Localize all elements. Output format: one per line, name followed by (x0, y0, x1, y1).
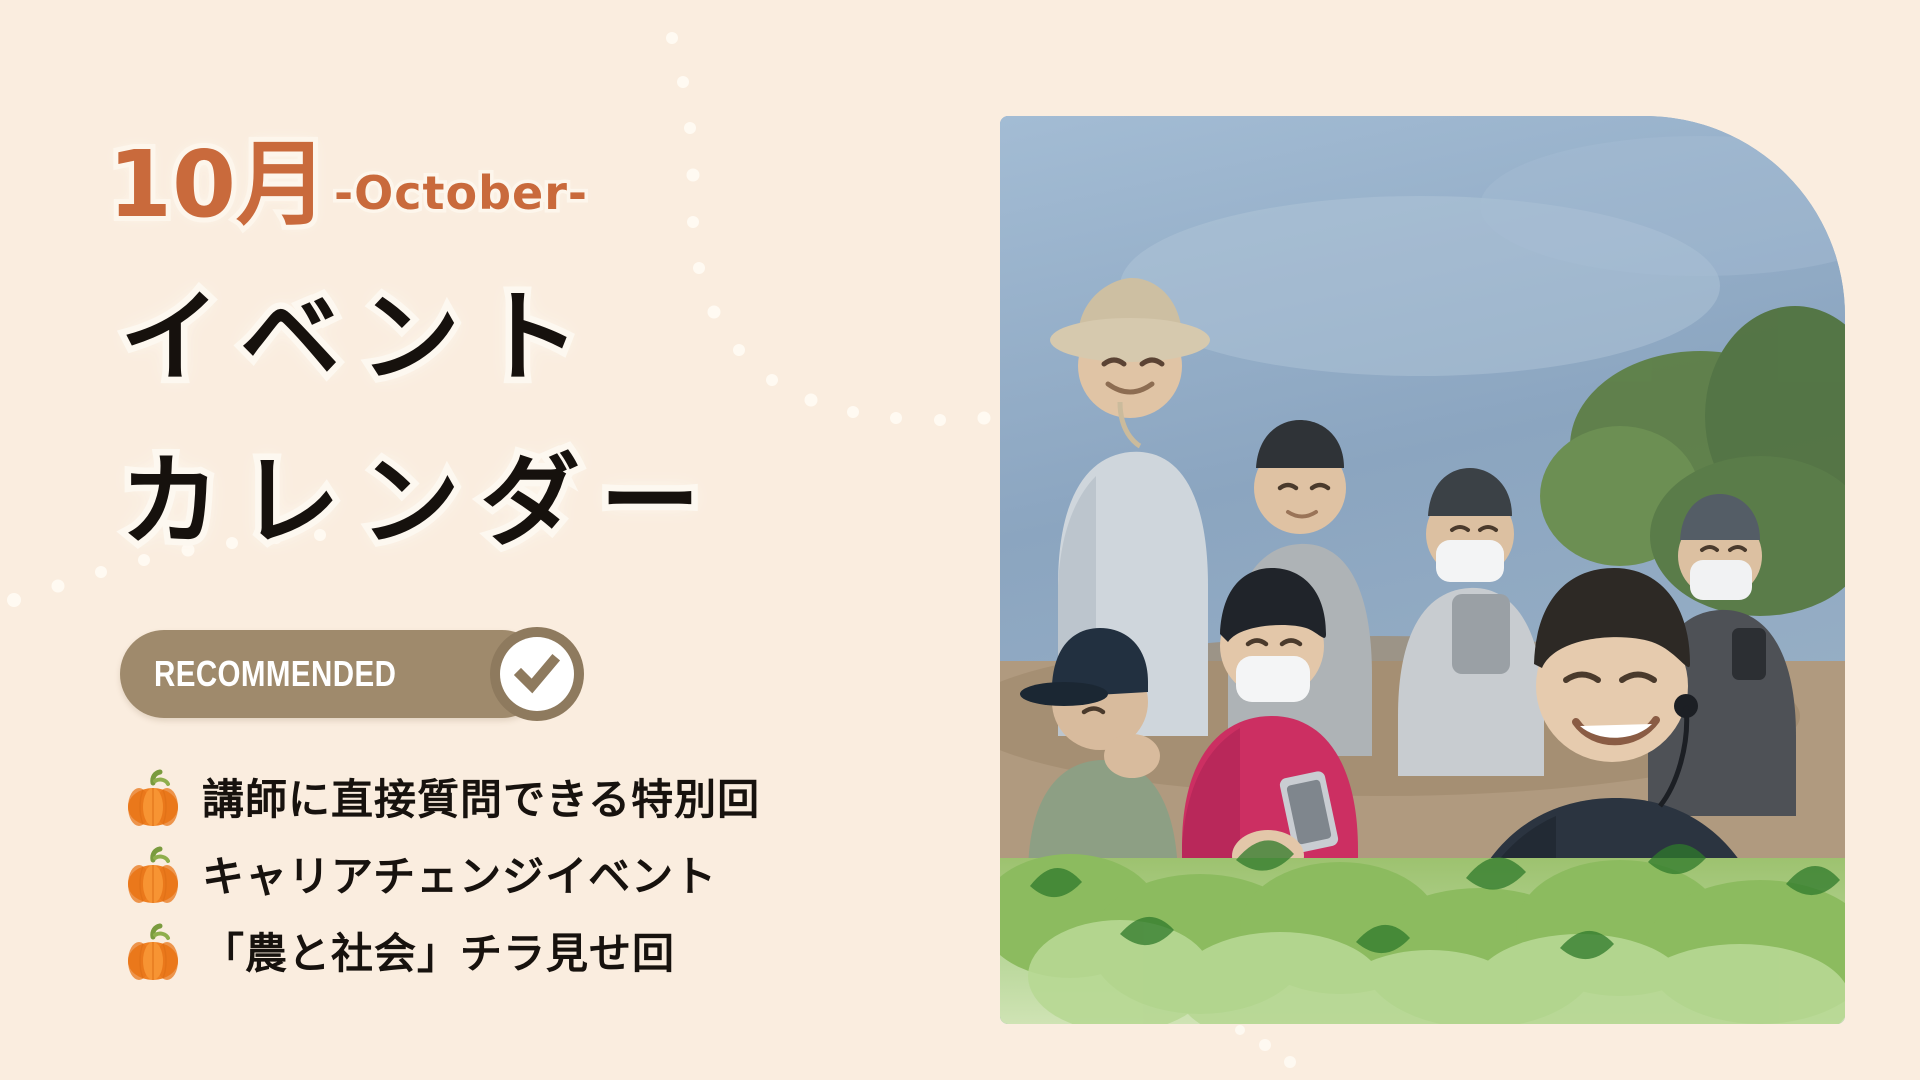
pumpkin-icon (122, 923, 184, 985)
list-item-label: 「農と社会」チラ見せ回 (202, 933, 675, 975)
pumpkin-icon (122, 846, 184, 908)
recommended-badge-label: RECOMMENDED (154, 653, 396, 695)
recommended-badge-pill: RECOMMENDED (120, 630, 546, 718)
pumpkin-icon (122, 769, 184, 831)
left-content-column: 10月 -October- イベント カレンダー RECOMMENDED (0, 0, 1000, 1080)
page-title-line-1: イベント (120, 288, 600, 388)
foreground-foliage (1000, 840, 1845, 1024)
month-heading: 10月 -October- (108, 118, 588, 228)
list-item: 「農と社会」チラ見せ回 (122, 916, 760, 991)
list-item-label: キャリアチェンジイベント (202, 856, 717, 898)
list-item-label: 講師に直接質問できる特別回 (202, 779, 760, 821)
list-item: 講師に直接質問できる特別回 (122, 762, 760, 837)
page-title-line-2: カレンダー (120, 452, 720, 552)
check-mark-icon (514, 651, 560, 697)
month-en-label: -October- (334, 166, 588, 220)
event-photo (1000, 116, 1845, 1024)
recommended-badge: RECOMMENDED (120, 630, 546, 718)
check-circle-inner (500, 637, 574, 711)
event-calendar-poster: 10月 -October- イベント カレンダー RECOMMENDED (0, 0, 1920, 1080)
check-circle-icon (490, 627, 584, 721)
list-item: キャリアチェンジイベント (122, 839, 760, 914)
recommended-list: 講師に直接質問できる特別回 キャリアチェ (122, 762, 760, 993)
event-photo-illustration (1000, 116, 1845, 1024)
month-jp-label: 10月 (108, 141, 328, 228)
